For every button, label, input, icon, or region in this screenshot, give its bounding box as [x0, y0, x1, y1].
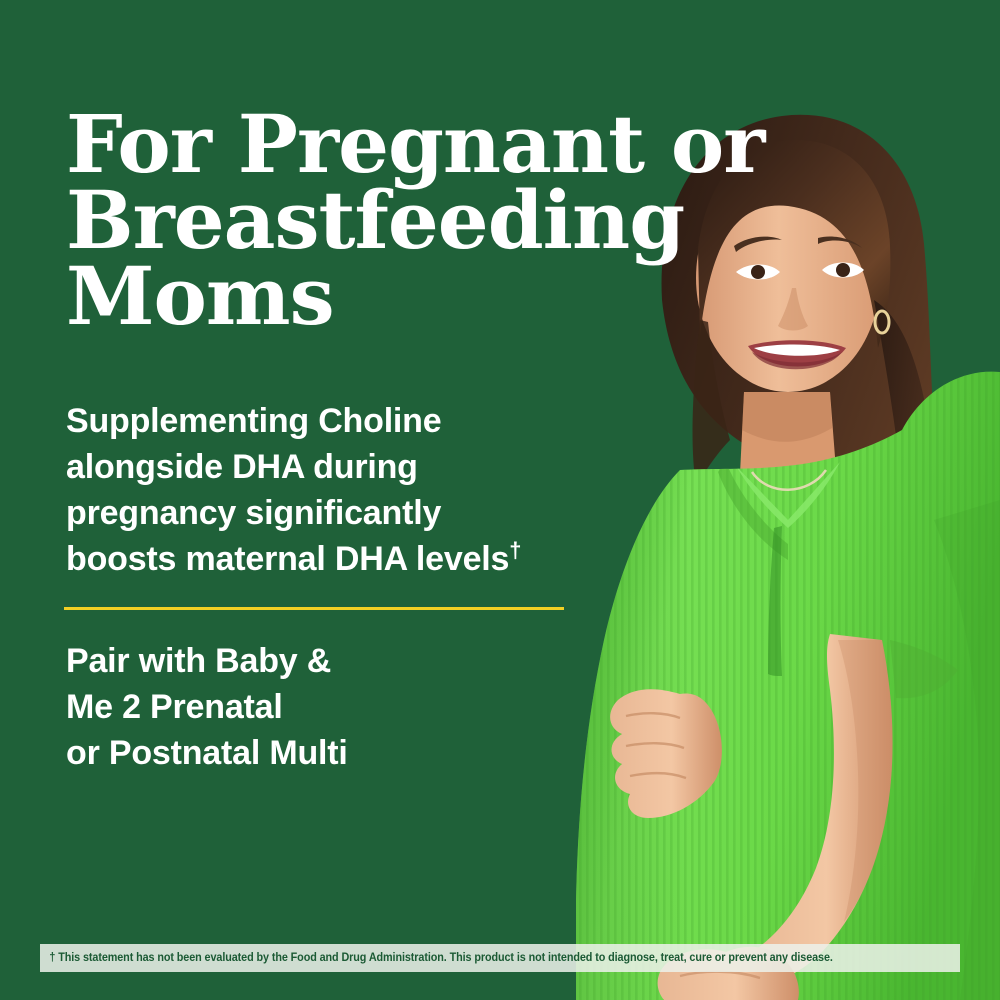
benefit-line-4: boosts maternal DHA levels† [66, 536, 586, 582]
footer-disclaimer-text: † This statement has not been evaluated … [40, 952, 833, 964]
headline-line-1: For Pregnant or [66, 106, 856, 182]
page-title: For Pregnant or Breastfeeding Moms [66, 106, 856, 334]
benefit-statement: Supplementing Choline alongside DHA duri… [66, 398, 586, 582]
benefit-line-1: Supplementing Choline [66, 398, 586, 444]
yellow-divider-rule [64, 607, 564, 610]
footer-disclaimer-bar: † This statement has not been evaluated … [40, 944, 960, 972]
promo-poster: For Pregnant or Breastfeeding Moms Suppl… [0, 0, 1000, 1000]
benefit-line-2: alongside DHA during [66, 444, 586, 490]
headline-line-2: Breastfeeding [66, 182, 856, 258]
neck-shadow [742, 392, 832, 442]
headline-line-3: Moms [66, 258, 856, 334]
benefit-line-3: pregnancy significantly [66, 490, 586, 536]
pair-line-1: Pair with Baby & [66, 638, 586, 684]
pair-line-2: Me 2 Prenatal [66, 684, 586, 730]
pair-line-3: or Postnatal Multi [66, 730, 586, 776]
dagger-footnote-marker: † [509, 538, 521, 563]
benefit-line-4-text: boosts maternal DHA levels [66, 540, 509, 578]
pairing-recommendation: Pair with Baby & Me 2 Prenatal or Postna… [66, 638, 586, 776]
